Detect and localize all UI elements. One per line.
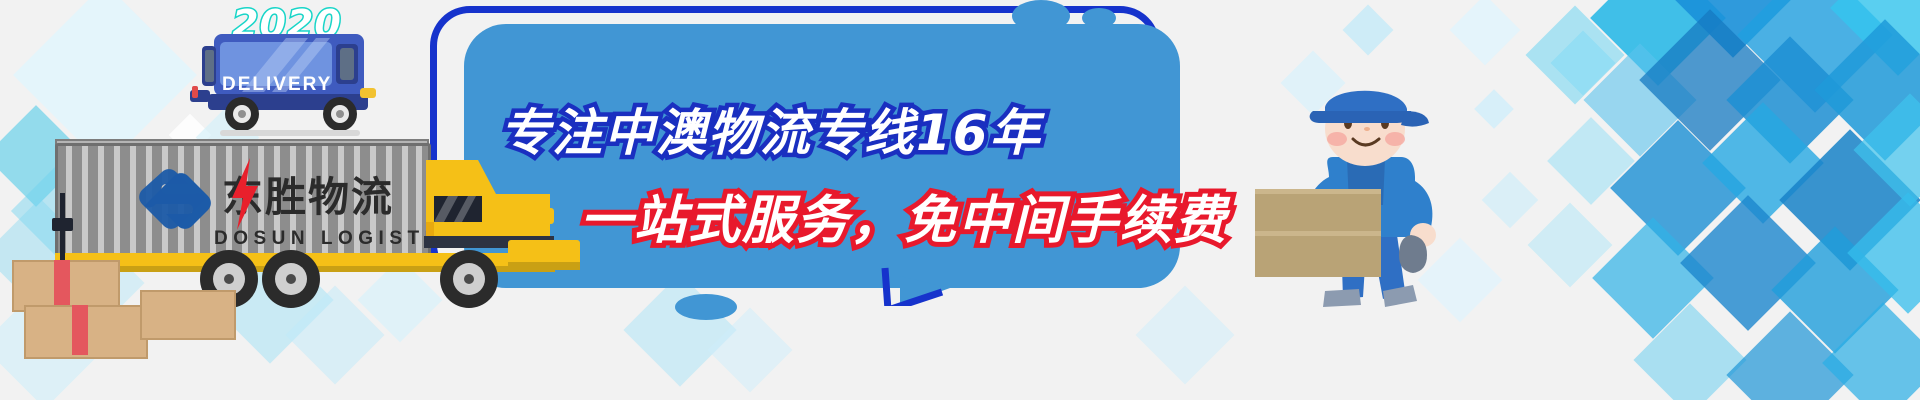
mosaic-tile: [1639, 9, 1780, 150]
mosaic-tile: [1771, 226, 1898, 353]
mosaic-tile: [1610, 120, 1746, 256]
mosaic-tile: [708, 308, 793, 393]
mosaic-tile: [1547, 117, 1635, 205]
bubble-dot-small: [1082, 8, 1116, 28]
bubble-dot-large: [1012, 0, 1070, 32]
mosaic-tile: [1592, 217, 1714, 339]
headline-line-1: 专注中澳物流专线16年: [500, 93, 1042, 165]
mosaic-tile: [1343, 5, 1394, 56]
bubble-dot-bottom: [675, 294, 737, 320]
trailer-wheel-2-center: [286, 274, 296, 284]
mosaic-tile: [1726, 36, 1853, 163]
mosaic-tile: [1450, 0, 1521, 65]
mosaic-tile: [1680, 195, 1816, 331]
mosaic-tile: [1737, 0, 1893, 113]
mosaic-tile: [1590, 0, 1726, 86]
van-delivery-label: DELIVERY: [222, 74, 332, 96]
mosaic-tile: [1633, 303, 1746, 400]
dosun-logo-icon: [132, 160, 218, 240]
cab-wheel-center: [464, 274, 474, 284]
package-box-3: [140, 290, 236, 340]
mosaic-tile: [1474, 89, 1514, 129]
mosaic-tile: [1482, 172, 1539, 229]
headline-line-2: 一站式服务，免中间手续费: [580, 178, 1228, 253]
mosaic-tile: [1726, 311, 1853, 400]
container-support-foot: [52, 218, 73, 231]
truck-bumper-lip: [508, 262, 580, 270]
mosaic-tile: [1847, 192, 1920, 314]
mosaic-tile: [1779, 129, 1920, 270]
mosaic-tile: [1550, 30, 1615, 95]
lightning-bolt-icon: [228, 158, 262, 230]
delivery-worker-illustration: [1255, 85, 1475, 325]
mosaic-tile: [1672, 0, 1794, 58]
mosaic-tile: [1702, 102, 1824, 224]
mosaic-tile: [1822, 302, 1920, 400]
trailer-wheel-1-center: [224, 274, 234, 284]
mosaic-tile: [1526, 6, 1625, 105]
mosaic-tile: [1853, 93, 1920, 206]
package-tape-2: [72, 305, 88, 355]
logistics-banner: 专注中澳物流专线16年 一站式服务，免中间手续费 2020 DELIVERY: [0, 0, 1920, 400]
package-tape-1: [54, 260, 70, 308]
mosaic-tile: [1583, 43, 1696, 156]
mosaic-tile: [1814, 19, 1920, 160]
mosaic-tile: [1528, 203, 1613, 288]
mosaic-tile: [1830, 0, 1920, 76]
